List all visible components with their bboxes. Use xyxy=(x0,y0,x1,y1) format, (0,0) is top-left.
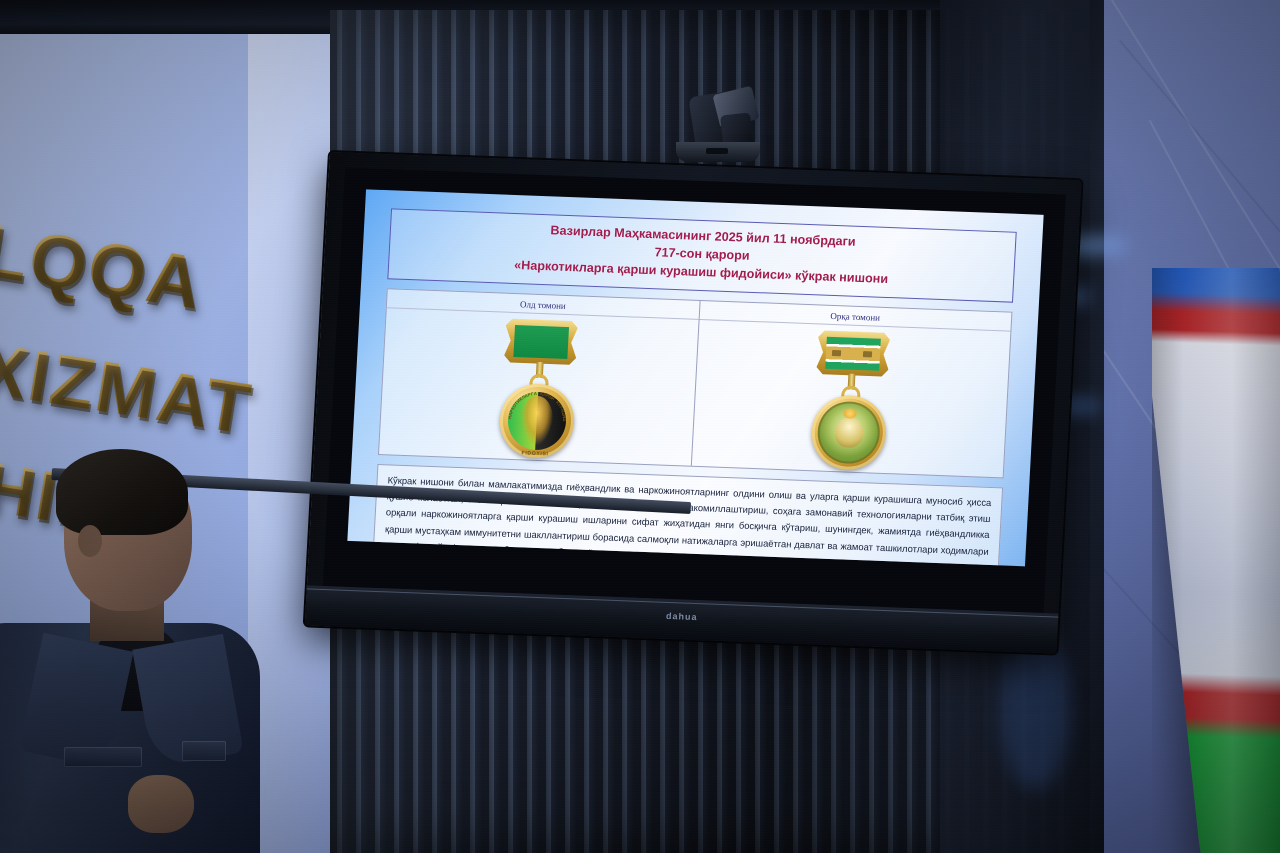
medal-back-cell: Орқа томони xyxy=(691,301,1011,477)
slide-title-box: Вазирлар Маҳкамасининг 2025 йил 11 ноябр… xyxy=(387,208,1016,302)
person-in-uniform xyxy=(0,455,286,853)
uniform-name-patch xyxy=(64,747,142,767)
medal-front-graphic: НАРКОТИКЛАРГА ҚАРШИ КУРАШИШ FIDOYISI xyxy=(475,315,602,461)
room-scene: LQQA XIZMAT HIR AQ Вазирлар Маҳкамасинин… xyxy=(0,0,1280,853)
medal-back-disc xyxy=(810,394,888,471)
slide-body-box: Кўкрак нишони билан мамлакатимизда гиёҳв… xyxy=(372,464,1003,567)
medal-back-ribbon xyxy=(816,330,890,377)
medal-front-cell: Олд томони xyxy=(379,289,700,465)
wall-display[interactable]: AQ Вазирлар Маҳкамасининг 2025 йил 11 но… xyxy=(305,152,1082,654)
medal-front-caption: Олд томони xyxy=(387,294,699,320)
medal-front-ribbon xyxy=(504,318,578,365)
display-brand-logo: dahua xyxy=(666,611,698,622)
hair xyxy=(56,449,188,535)
medal-front-bottom-text: FIDOYISI xyxy=(521,450,548,457)
ptz-camera xyxy=(672,88,768,166)
uniform-shoulder-patch xyxy=(182,741,226,761)
slide-body-text: Кўкрак нишони билан мамлакатимизда гиёҳв… xyxy=(384,472,992,566)
presentation-slide: Вазирлар Маҳкамасининг 2025 йил 11 ноябр… xyxy=(347,189,1043,566)
medal-figure-box: Олд томони xyxy=(378,288,1013,478)
medal-back-graphic xyxy=(787,327,914,473)
uzbekistan-flag xyxy=(1152,268,1280,853)
medal-front-disc: НАРКОТИКЛАРГА ҚАРШИ КУРАШИШ FIDOYISI xyxy=(498,382,576,459)
medal-back-caption: Орқа томони xyxy=(699,306,1011,332)
state-emblem-icon xyxy=(816,400,881,464)
hand xyxy=(128,775,194,833)
ear xyxy=(78,525,102,557)
